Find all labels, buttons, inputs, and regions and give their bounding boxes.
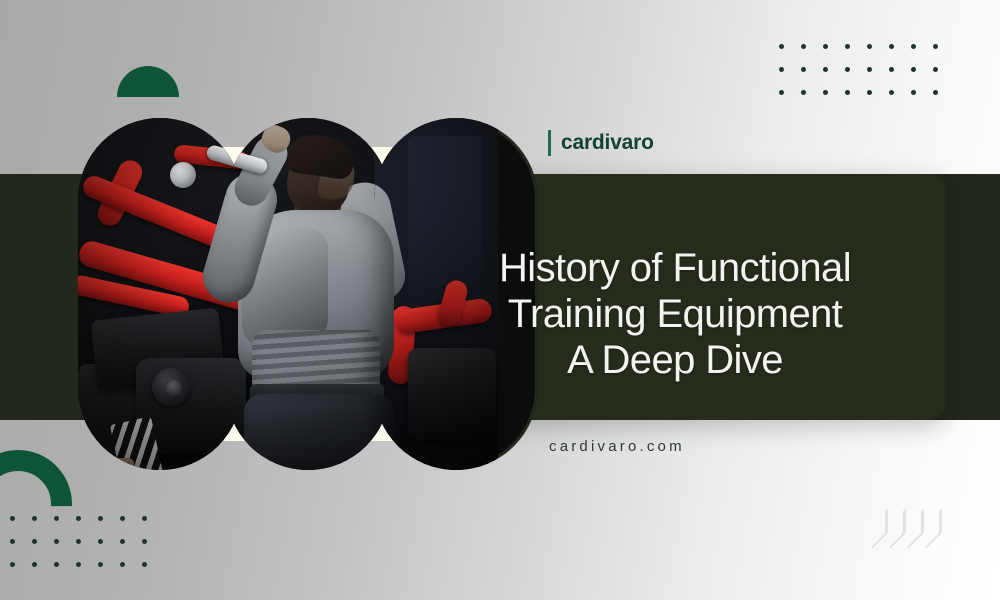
chevron-right-icon: [872, 508, 888, 549]
banner-canvas: cardivaro History of Functional Training…: [0, 0, 1000, 600]
dot: [142, 539, 147, 544]
dot: [10, 516, 15, 521]
dot: [933, 67, 938, 72]
dot: [54, 562, 59, 567]
photo-vignette: [78, 118, 242, 470]
dot: [889, 90, 894, 95]
vertical-bar-icon: [548, 130, 551, 156]
dot: [889, 44, 894, 49]
page-title-line-1: History of Functional: [430, 245, 920, 291]
gym-photo: [78, 118, 242, 470]
chevron-group: [872, 508, 942, 533]
dot: [823, 90, 828, 95]
dot-grid-bottom-left: [0, 516, 164, 585]
photo-pill-1: [78, 118, 242, 470]
dot: [120, 562, 125, 567]
dot: [845, 90, 850, 95]
website-url[interactable]: cardivaro.com: [549, 438, 685, 455]
dot: [142, 516, 147, 521]
dot: [120, 516, 125, 521]
dot: [76, 539, 81, 544]
half-circle-decoration: [117, 66, 179, 97]
dot: [823, 67, 828, 72]
dot: [801, 90, 806, 95]
dot: [911, 90, 916, 95]
dot: [76, 562, 81, 567]
dot: [779, 90, 784, 95]
gym-photo: [226, 118, 390, 470]
dot: [911, 44, 916, 49]
chevron-right-icon: [908, 508, 924, 549]
brand-logo[interactable]: cardivaro: [548, 130, 654, 156]
page-title-line-3: A Deep Dive: [430, 337, 920, 383]
dot: [867, 90, 872, 95]
page-title-line-2: Training Equipment: [430, 291, 920, 337]
dot: [933, 44, 938, 49]
dot: [867, 44, 872, 49]
dot: [779, 67, 784, 72]
dot: [823, 44, 828, 49]
brand-name: cardivaro: [561, 131, 654, 155]
chevron-right-icon: [890, 508, 906, 549]
dot: [54, 516, 59, 521]
dot: [10, 539, 15, 544]
page-title: History of Functional Training Equipment…: [430, 245, 920, 383]
dot: [10, 562, 15, 567]
dot: [120, 539, 125, 544]
dot: [911, 67, 916, 72]
dot: [98, 562, 103, 567]
dot: [32, 516, 37, 521]
dot: [845, 67, 850, 72]
photo-pill-2: [226, 118, 390, 470]
dot-grid-top-right: [779, 44, 955, 113]
dot: [801, 67, 806, 72]
dot: [889, 67, 894, 72]
dot: [54, 539, 59, 544]
dot: [845, 44, 850, 49]
photo-vignette: [226, 118, 390, 470]
dot: [98, 539, 103, 544]
dot: [32, 562, 37, 567]
dot: [779, 44, 784, 49]
dot: [76, 516, 81, 521]
dot: [933, 90, 938, 95]
dot: [98, 516, 103, 521]
dot: [32, 539, 37, 544]
chevron-right-icon: [926, 508, 942, 549]
dot: [142, 562, 147, 567]
dot: [867, 67, 872, 72]
dot: [801, 44, 806, 49]
